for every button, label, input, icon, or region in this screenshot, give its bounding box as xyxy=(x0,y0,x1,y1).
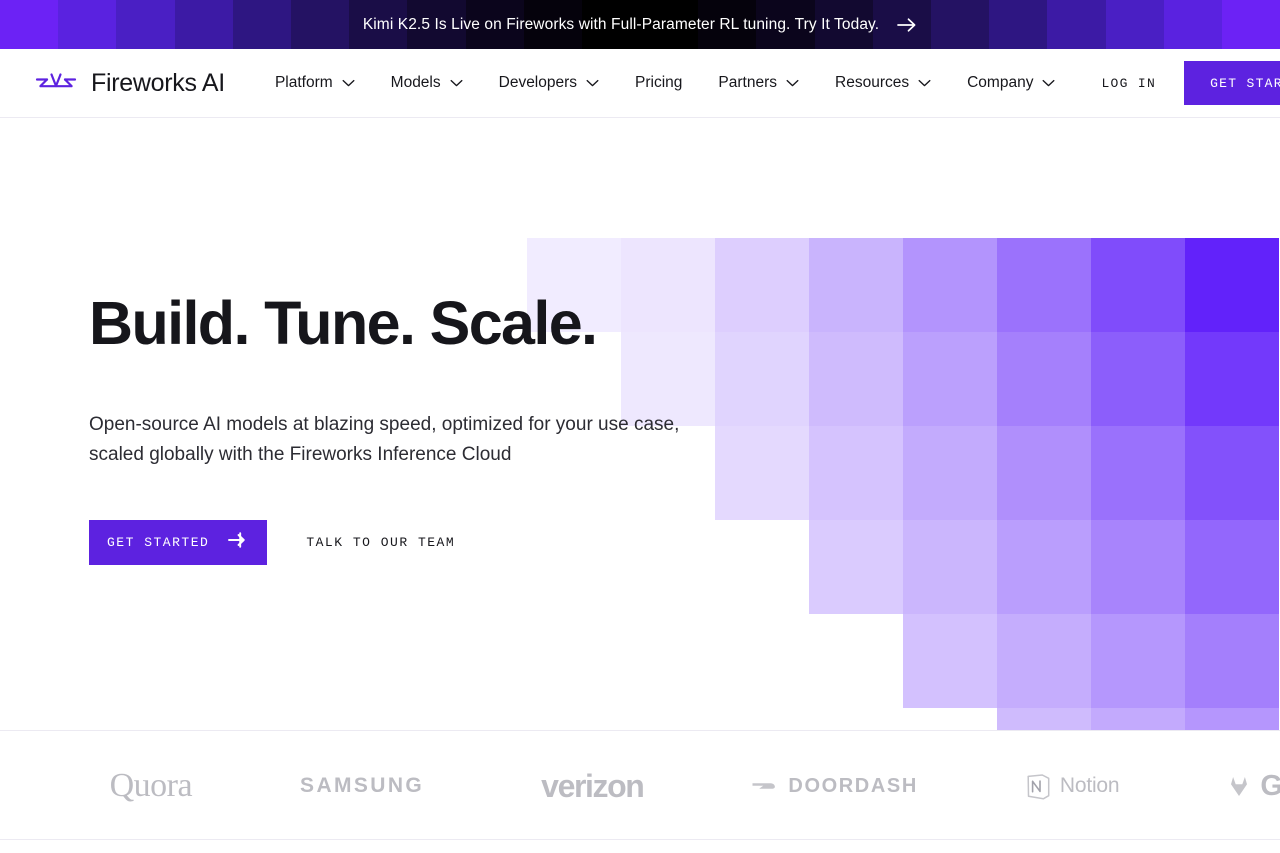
chevron-down-icon xyxy=(450,74,463,92)
main-navigation: Fireworks AI PlatformModelsDevelopersPri… xyxy=(0,49,1280,118)
chevron-down-icon xyxy=(786,74,799,92)
hero-get-started-button[interactable]: GET STARTED xyxy=(89,520,267,565)
decorative-tile xyxy=(997,708,1091,730)
decorative-tile xyxy=(809,238,903,332)
nav-item-label: Models xyxy=(391,74,441,92)
nav-item-label: Pricing xyxy=(635,74,682,92)
customer-logo-label: Cresta xyxy=(0,772,2,800)
notion-n-icon xyxy=(1026,773,1051,800)
customer-logo-quora: Quora xyxy=(110,767,192,805)
nav-item-partners[interactable]: Partners xyxy=(700,49,817,118)
decorative-tile xyxy=(1185,520,1279,614)
customer-logo-samsung: SAMSUNG xyxy=(300,774,424,798)
nav-item-label: Resources xyxy=(835,74,909,92)
decorative-tile xyxy=(1091,614,1185,708)
nav-links: PlatformModelsDevelopersPricingPartnersR… xyxy=(257,49,1074,118)
nav-item-models[interactable]: Models xyxy=(373,49,481,118)
announcement-link[interactable]: Kimi K2.5 Is Live on Fireworks with Full… xyxy=(363,16,917,34)
customer-logo-label: DOORDASH xyxy=(788,775,917,798)
chevron-down-icon xyxy=(1042,74,1055,92)
decorative-tile xyxy=(809,332,903,426)
nav-item-resources[interactable]: Resources xyxy=(817,49,949,118)
page-root: Kimi K2.5 Is Live on Fireworks with Full… xyxy=(0,0,1280,853)
decorative-tile xyxy=(997,332,1091,426)
nav-item-label: Platform xyxy=(275,74,333,92)
hero-content: Build. Tune. Scale. Open-source AI model… xyxy=(89,118,729,565)
hero-title: Build. Tune. Scale. xyxy=(89,291,729,356)
decorative-tile xyxy=(809,426,903,520)
gitlab-fox-icon xyxy=(1227,774,1251,798)
customer-logo-notion: Notion xyxy=(1026,773,1120,800)
decorative-tile xyxy=(903,332,997,426)
decorative-tile xyxy=(997,426,1091,520)
decorative-tile xyxy=(1091,332,1185,426)
nav-item-label: Company xyxy=(967,74,1033,92)
decorative-tile xyxy=(1091,426,1185,520)
chevron-down-icon xyxy=(586,74,599,92)
nav-item-label: Partners xyxy=(718,74,777,92)
nav-item-pricing[interactable]: Pricing xyxy=(617,49,700,118)
customer-logo-label: verizon xyxy=(541,768,643,805)
nav-item-developers[interactable]: Developers xyxy=(481,49,617,118)
customer-logo-cresta: Cresta xyxy=(0,772,2,800)
talk-to-team-button[interactable]: TALK TO OUR TEAM xyxy=(300,520,461,565)
customer-logo-label: GitLab xyxy=(1260,770,1280,803)
nav-item-company[interactable]: Company xyxy=(949,49,1073,118)
decorative-tile xyxy=(1185,332,1279,426)
nav-actions: LOG IN GET STARTED xyxy=(1073,49,1280,117)
decorative-tile xyxy=(903,614,997,708)
arrow-right-icon xyxy=(897,17,917,33)
announcement-text: Kimi K2.5 Is Live on Fireworks with Full… xyxy=(363,16,879,34)
nav-get-started-button[interactable]: GET STARTED xyxy=(1184,61,1280,105)
nav-item-platform[interactable]: Platform xyxy=(257,49,373,118)
customer-logo-doordash: DOORDASH xyxy=(751,775,917,798)
decorative-tile xyxy=(809,520,903,614)
doordash-swoosh-icon xyxy=(751,778,779,794)
decorative-tile xyxy=(715,332,809,426)
customer-logo-verizon: verizon xyxy=(532,768,643,805)
decorative-tile xyxy=(1185,426,1279,520)
nav-item-label: Developers xyxy=(499,74,577,92)
announcement-banner[interactable]: Kimi K2.5 Is Live on Fireworks with Full… xyxy=(0,0,1280,49)
customer-logo-label: SAMSUNG xyxy=(300,774,424,798)
decorative-tile xyxy=(903,426,997,520)
decorative-tile xyxy=(997,520,1091,614)
hero-get-started-label: GET STARTED xyxy=(107,535,209,550)
brand-name: Fireworks AI xyxy=(91,69,225,98)
next-section-peek: FIREWORKS AI CLOUD xyxy=(0,840,1280,853)
chevron-down-icon xyxy=(918,74,931,92)
logos-track: CrestaQuoraSAMSUNGverizonDOORDASHNotionG… xyxy=(0,731,1280,840)
decorative-tile xyxy=(715,426,809,520)
decorative-tile xyxy=(903,520,997,614)
customer-logo-label: Quora xyxy=(110,767,192,805)
brand-logo-link[interactable]: Fireworks AI xyxy=(33,69,225,98)
hero-subtitle: Open-source AI models at blazing speed, … xyxy=(89,410,714,470)
decorative-tile xyxy=(1091,238,1185,332)
decorative-tile xyxy=(1185,238,1279,332)
customer-logo-label: Notion xyxy=(1060,774,1120,798)
chevron-down-icon xyxy=(342,74,355,92)
decorative-tile xyxy=(715,238,809,332)
decorative-tile xyxy=(997,614,1091,708)
customer-logos-strip: CrestaQuoraSAMSUNGverizonDOORDASHNotionG… xyxy=(0,730,1280,840)
hero-actions: GET STARTED TALK TO OUR TEAM xyxy=(89,520,729,565)
decorative-tile xyxy=(1185,614,1279,708)
decorative-tile xyxy=(1185,708,1279,730)
hero-section: Build. Tune. Scale. Open-source AI model… xyxy=(0,118,1280,730)
decorative-tile xyxy=(1091,708,1185,730)
decorative-tile xyxy=(1091,520,1185,614)
fireworks-spark-logo xyxy=(33,70,79,96)
decorative-tile xyxy=(997,238,1091,332)
customer-logo-gitlab: GitLab xyxy=(1227,770,1280,803)
arrow-right-bar-icon xyxy=(227,532,249,552)
decorative-tile xyxy=(903,238,997,332)
login-link[interactable]: LOG IN xyxy=(1073,76,1184,91)
